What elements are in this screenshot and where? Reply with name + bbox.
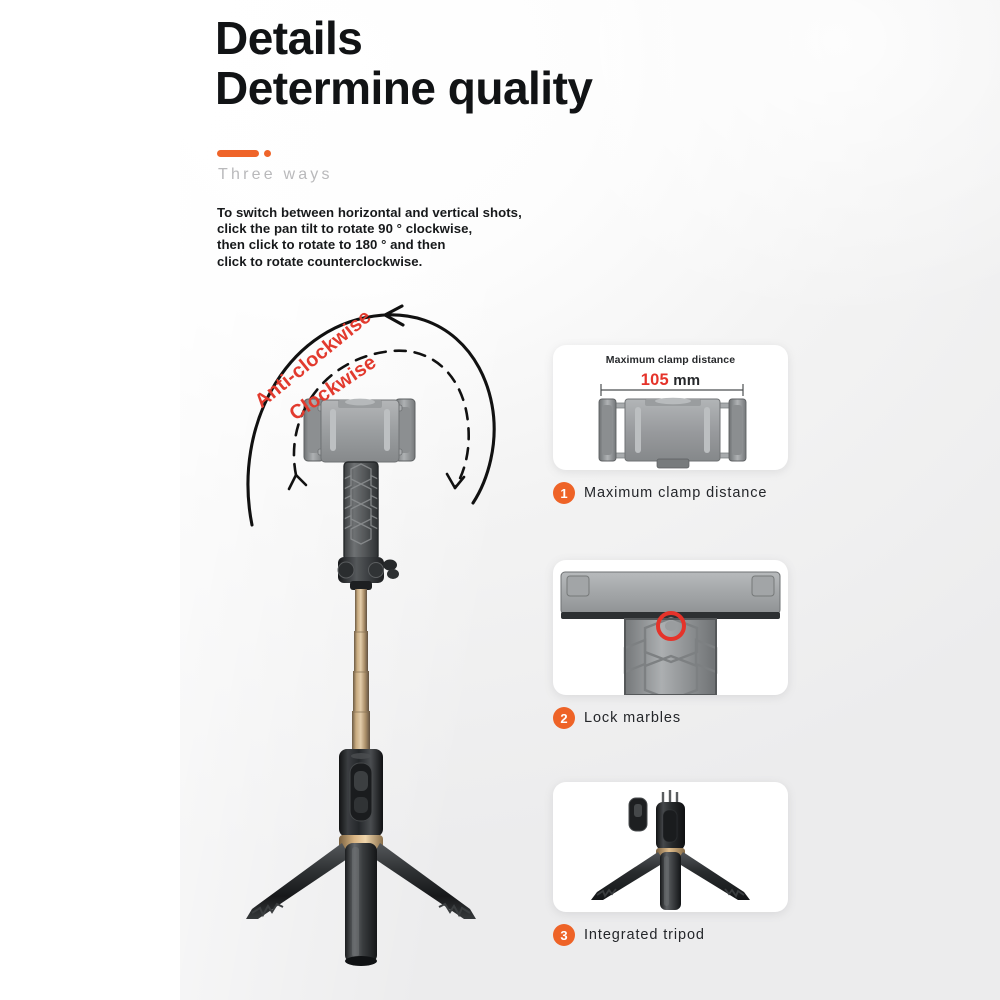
card-3-caption: 3 Integrated tripod — [553, 924, 788, 946]
card-2-caption-text: Lock marbles — [584, 710, 681, 726]
card-3-photo — [553, 782, 788, 912]
card-2-badge: 2 — [553, 707, 575, 729]
card-1-photo: Maximum clamp distance 105 mm — [553, 345, 788, 470]
body-line: click to rotate counterclockwise. — [217, 254, 522, 270]
card-2-caption: 2 Lock marbles — [553, 707, 788, 729]
eyebrow-marker — [217, 150, 271, 157]
page-title: Details Determine quality — [215, 14, 593, 113]
rotation-diagram: Anti-clockwise Clockwise — [230, 275, 520, 535]
infographic-page: Details Determine quality Three ways To … — [0, 0, 1000, 1000]
card-1-caption: 1 Maximum clamp distance — [553, 482, 788, 504]
card-1-badge: 1 — [553, 482, 575, 504]
body-copy: To switch between horizontal and vertica… — [217, 205, 522, 270]
integrated-tripod-icon — [553, 782, 788, 912]
clamp-top-view-icon — [553, 345, 788, 470]
card-3-caption-text: Integrated tripod — [584, 927, 705, 943]
card-3-badge: 3 — [553, 924, 575, 946]
body-line: To switch between horizontal and vertica… — [217, 205, 522, 221]
marker-dot-icon — [264, 150, 271, 157]
card-1-caption-text: Maximum clamp distance — [584, 485, 767, 501]
headline-line-1: Details — [215, 14, 593, 64]
eyebrow-label: Three ways — [218, 166, 333, 184]
feature-card-3[interactable]: 3 Integrated tripod — [553, 782, 788, 946]
card-2-photo — [553, 560, 788, 695]
body-line: click the pan tilt to rotate 90 ° clockw… — [217, 221, 522, 237]
marker-bar-icon — [217, 150, 259, 157]
feature-card-2[interactable]: 2 Lock marbles — [553, 560, 788, 729]
feature-card-1[interactable]: Maximum clamp distance 105 mm — [553, 345, 788, 504]
lock-marbles-closeup-icon — [553, 560, 788, 695]
body-line: then click to rotate to 180 ° and then — [217, 237, 522, 253]
headline-line-2: Determine quality — [215, 64, 593, 114]
